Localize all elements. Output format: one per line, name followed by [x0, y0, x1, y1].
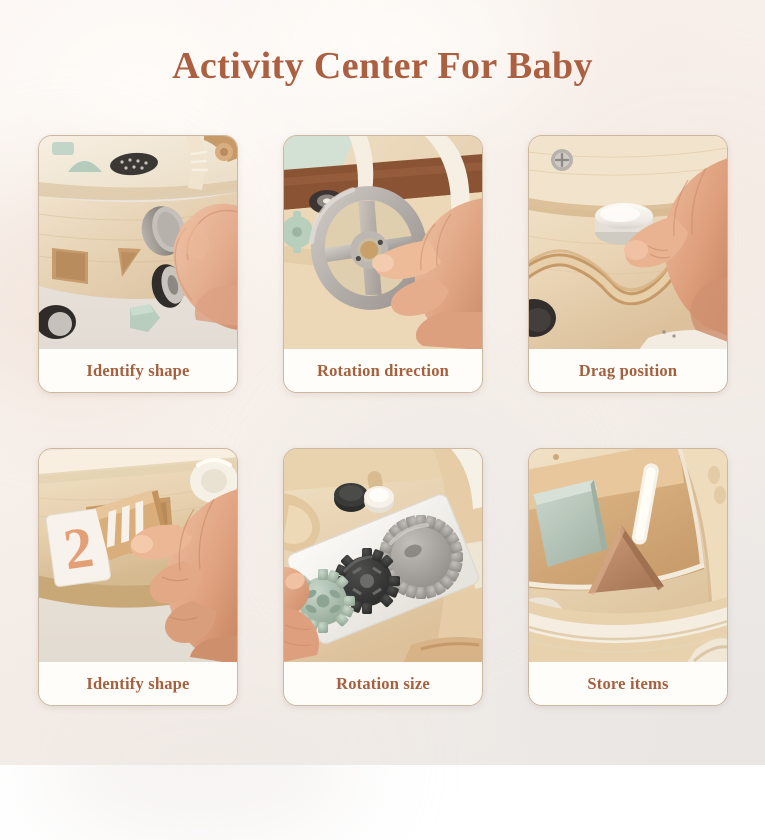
card-caption-label: Identify shape	[86, 361, 189, 381]
feature-card-identify-shape-number-card[interactable]: 2	[38, 448, 238, 706]
feature-card-rotation-direction-wheel[interactable]: Rotation direction	[283, 135, 483, 393]
feature-card-drag-position-slider[interactable]: Drag position	[528, 135, 728, 393]
illustration-steering-wheel	[284, 136, 482, 351]
photo-identify-shape-blocks	[39, 136, 237, 351]
card-caption-label: Drag position	[579, 361, 677, 381]
card-caption: Identify shape	[39, 662, 237, 705]
page-title: Activity Center For Baby	[0, 44, 765, 88]
illustration-number-card-slot: 2	[39, 449, 237, 664]
photo-store-items-compartment	[529, 449, 727, 664]
card-caption: Rotation direction	[284, 349, 482, 392]
poster-root: Activity Center For Baby	[0, 0, 765, 765]
card-caption-label: Rotation size	[336, 674, 430, 694]
card-caption-label: Store items	[587, 674, 668, 694]
card-caption: Identify shape	[39, 349, 237, 392]
background-blob	[40, 690, 360, 840]
illustration-wavy-track-slider	[529, 136, 727, 351]
photo-identify-shape-number-card: 2	[39, 449, 237, 664]
card-caption-label: Identify shape	[86, 674, 189, 694]
card-caption: Drag position	[529, 349, 727, 392]
photo-drag-position-slider	[529, 136, 727, 351]
card-caption-label: Rotation direction	[317, 361, 449, 381]
feature-card-identify-shape-blocks[interactable]: Identify shape	[38, 135, 238, 393]
photo-rotation-direction-wheel	[284, 136, 482, 351]
illustration-storage-compartment	[529, 449, 727, 664]
feature-card-store-items-compartment[interactable]: Store items	[528, 448, 728, 706]
feature-card-rotation-size-gears[interactable]: Rotation size	[283, 448, 483, 706]
illustration-gear-tray	[284, 449, 482, 664]
photo-rotation-size-gears	[284, 449, 482, 664]
card-caption: Store items	[529, 662, 727, 705]
illustration-shape-sorter	[39, 136, 237, 351]
feature-card-grid: Identify shape	[38, 135, 728, 710]
card-caption: Rotation size	[284, 662, 482, 705]
